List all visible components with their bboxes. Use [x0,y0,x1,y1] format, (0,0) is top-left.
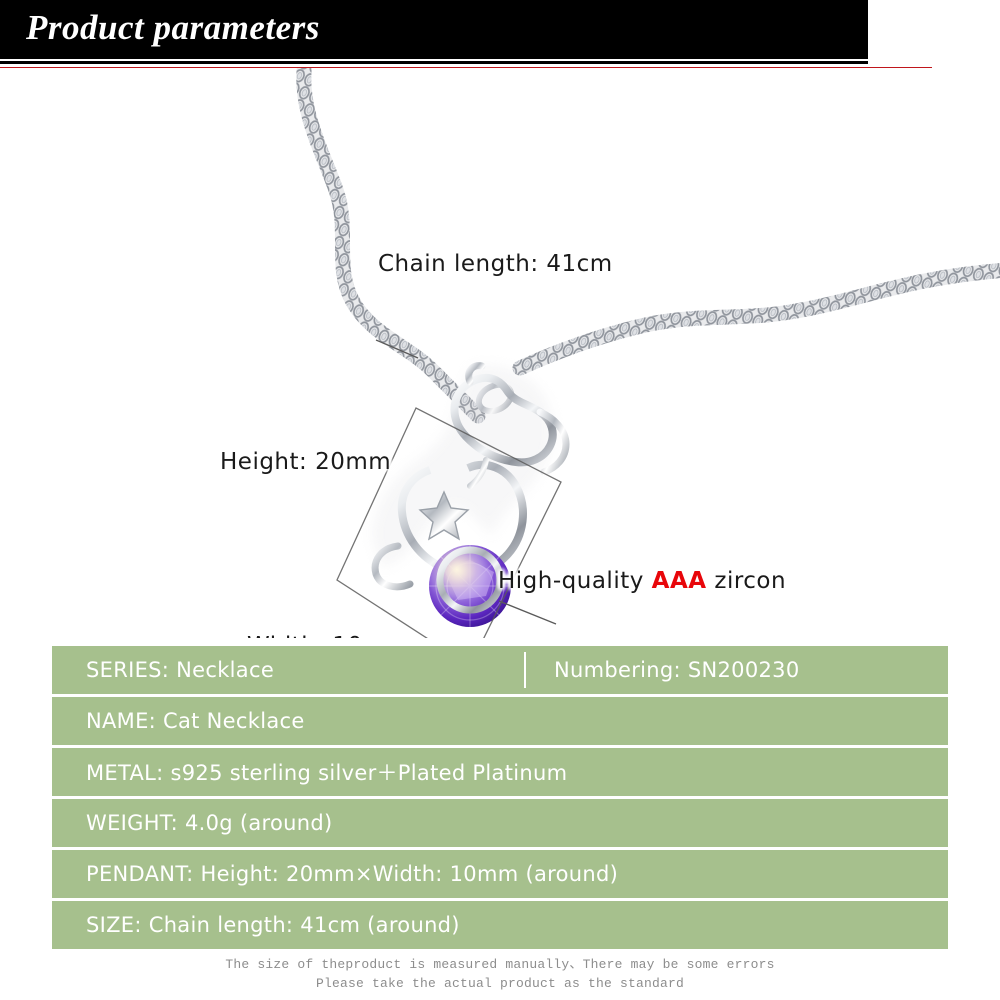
zircon-prefix: High-quality [498,568,652,594]
table-row: METAL: s925 sterling silver＋Plated Plati… [52,748,948,796]
product-parameters-page: Product parameters [0,0,1000,1000]
callout-zircon-quality: High-quality AAA zircon [498,568,786,594]
spec-pendant: PENDANT: Height: 20mm×Width: 10mm (aroun… [52,862,618,886]
footnote-line-2: Please take the actual product as the st… [0,974,1000,993]
callout-chain-length: Chain length: 41cm [378,251,613,277]
zircon-suffix: zircon [707,568,787,594]
footnote: The size of theproduct is measured manua… [0,955,1000,993]
zircon-leader-line [499,601,556,624]
spec-metal: METAL: s925 sterling silver＋Plated Plati… [52,757,567,787]
table-row: SIZE: Chain length: 41cm (around) [52,901,948,949]
table-row: NAME: Cat Necklace [52,697,948,745]
cat-pendant [372,366,553,568]
spec-numbering: Numbering: SN200230 [526,658,948,682]
zircon-grade: AAA [652,568,707,594]
callout-width: Width: 10mm [247,633,408,638]
chain-right-strand [520,270,1000,368]
table-row: WEIGHT: 4.0g (around) [52,799,948,847]
header-black-bar: Product parameters [0,0,868,56]
spec-table: SERIES: Necklace Numbering: SN200230 NAM… [52,646,948,952]
header-stripe-bottom [0,61,868,64]
spec-name: NAME: Cat Necklace [52,709,305,733]
chain-left-strand [304,68,478,416]
spec-weight: WEIGHT: 4.0g (around) [52,811,333,835]
product-photo: Chain length: 41cm Height: 20mm Width: 1… [0,68,1000,638]
table-row: PENDANT: Height: 20mm×Width: 10mm (aroun… [52,850,948,898]
footnote-line-1: The size of theproduct is measured manua… [0,955,1000,974]
spec-size: SIZE: Chain length: 41cm (around) [52,913,460,937]
callout-height: Height: 20mm [220,449,391,475]
necklace-illustration [0,68,1000,638]
table-row: SERIES: Necklace Numbering: SN200230 [52,646,948,694]
spec-series: SERIES: Necklace [52,658,524,682]
page-title: Product parameters [26,8,320,48]
